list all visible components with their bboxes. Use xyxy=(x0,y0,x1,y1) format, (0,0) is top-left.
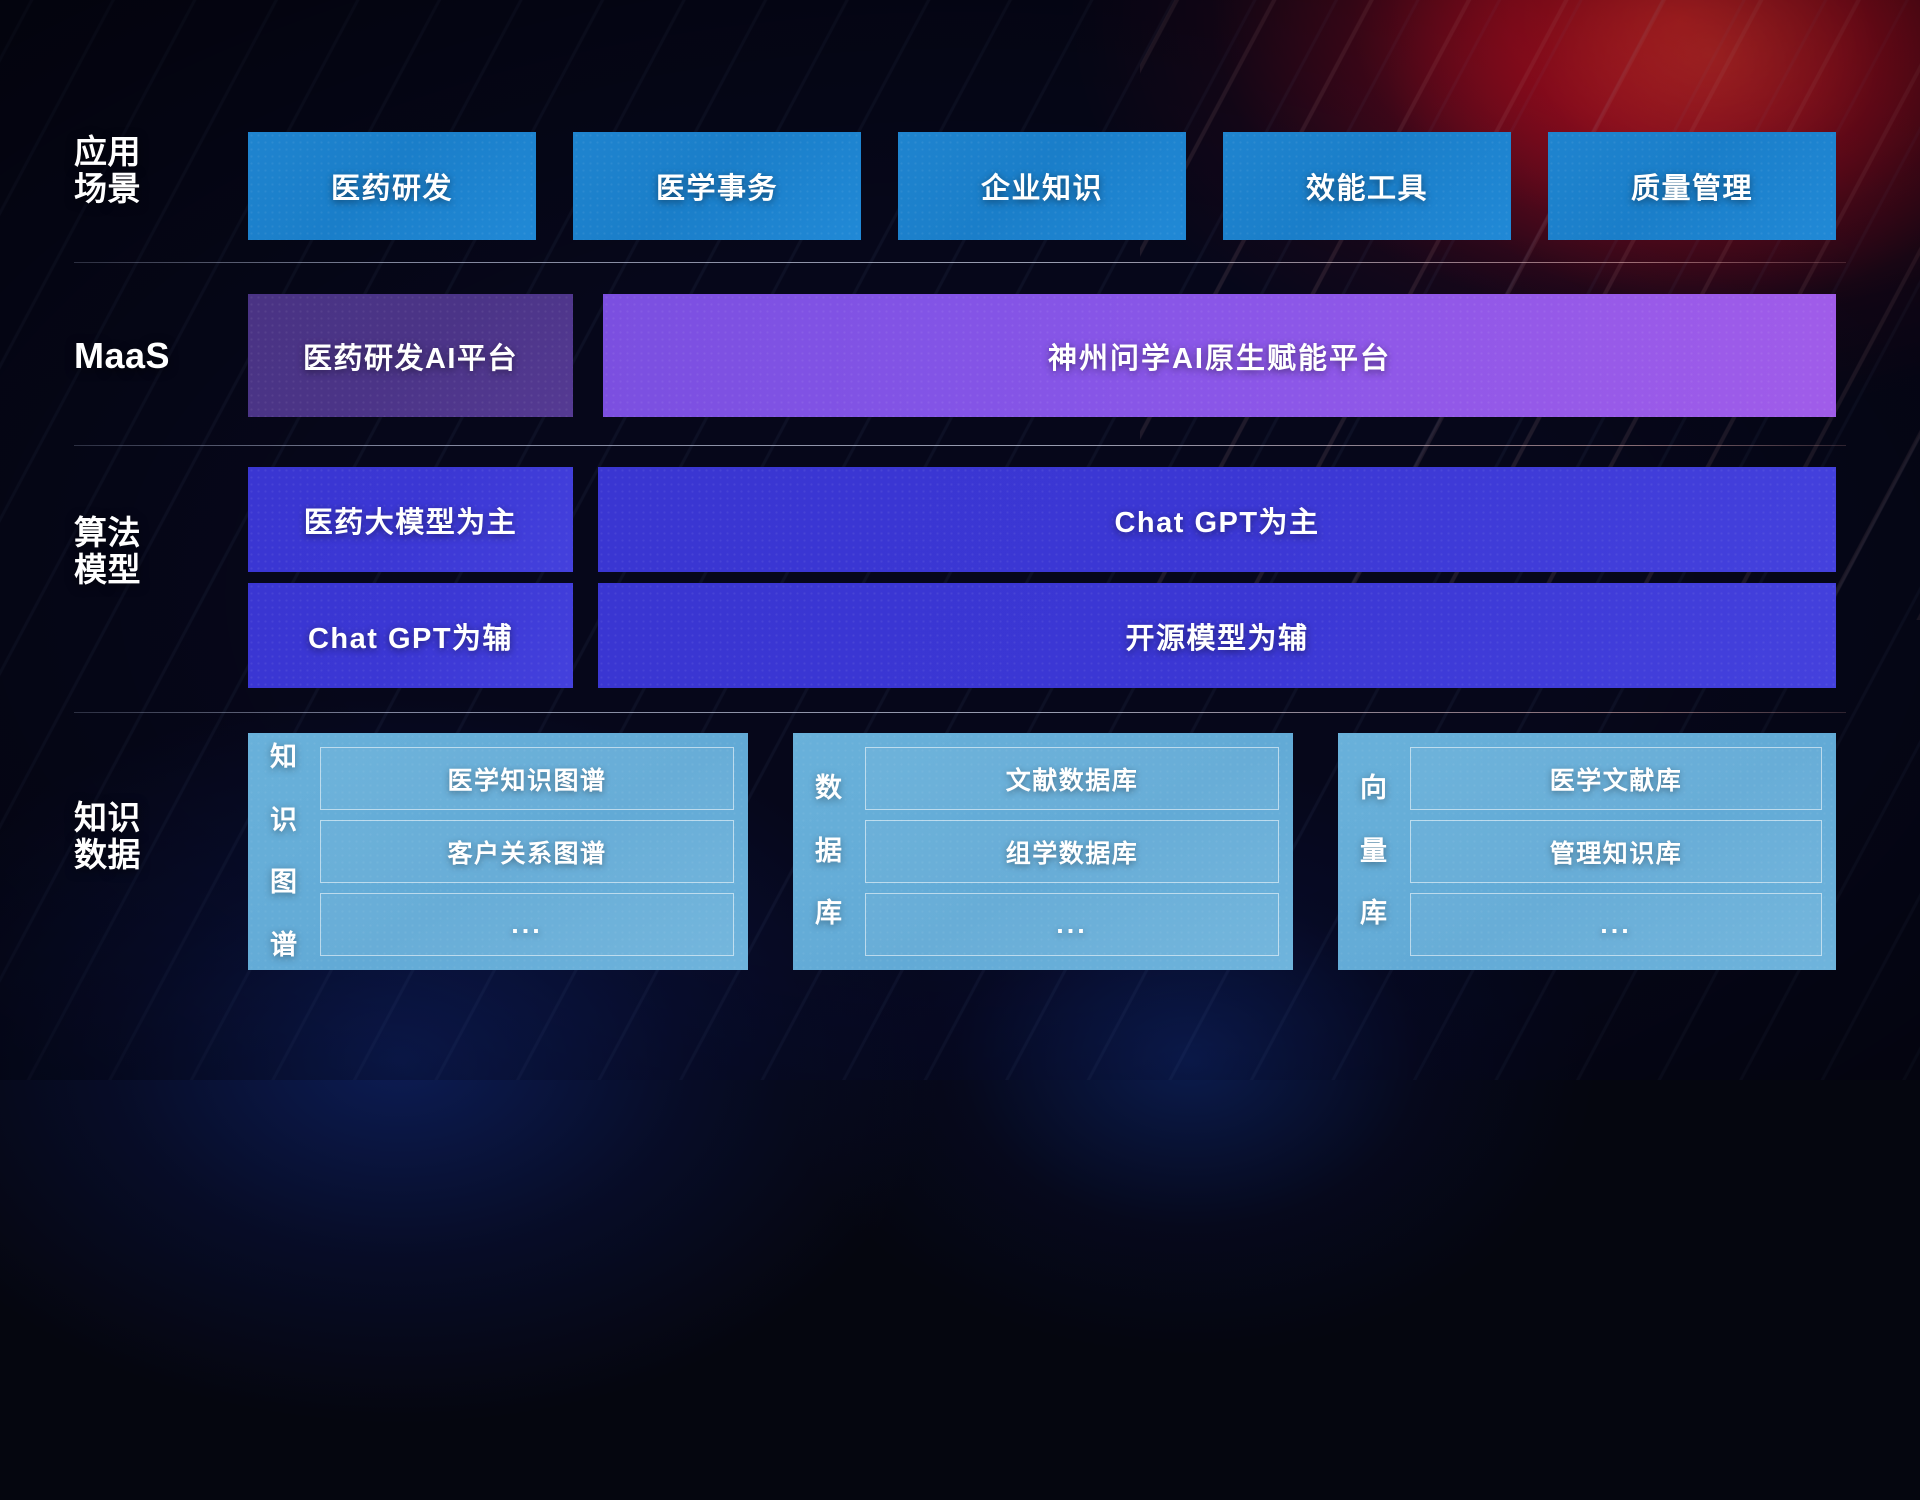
side-label-char: 库 xyxy=(815,898,843,929)
knowledge-panel-side-label: 数 据 库 xyxy=(793,747,865,956)
app-scenario-box-2[interactable]: 企业知识 xyxy=(898,132,1186,240)
knowledge-panel-vector-store[interactable]: 向 量 库 医学文献库 管理知识库 ... xyxy=(1338,733,1836,970)
tier-label-line: 场景 xyxy=(74,171,214,208)
knowledge-item[interactable]: 文献数据库 xyxy=(865,747,1279,810)
maas-platform-box-1[interactable]: 神州问学AI原生赋能平台 xyxy=(603,294,1836,417)
architecture-diagram: 应用 场景 医药研发 医学事务 企业知识 效能工具 质量管理 MaaS xyxy=(0,0,1920,1080)
maas-platform-label: 医药研发AI平台 xyxy=(303,335,518,377)
tier-label-line: 数据 xyxy=(74,837,214,874)
side-label-char: 向 xyxy=(1360,773,1388,804)
tier-label-line: 知识 xyxy=(74,800,214,837)
tier-label-line: 模型 xyxy=(74,552,214,589)
app-scenario-label: 医学事务 xyxy=(656,165,778,207)
maas-platform-label: 神州问学AI原生赋能平台 xyxy=(1048,335,1391,377)
knowledge-panel-database[interactable]: 数 据 库 文献数据库 组学数据库 ... xyxy=(793,733,1293,970)
tier-label-maas: MaaS xyxy=(74,336,214,376)
side-label-char: 图 xyxy=(270,867,298,898)
app-scenario-box-0[interactable]: 医药研发 xyxy=(248,132,536,240)
knowledge-item[interactable]: 组学数据库 xyxy=(865,820,1279,883)
algorithm-box-row0-left[interactable]: 医药大模型为主 xyxy=(248,467,573,572)
side-label-char: 数 xyxy=(815,773,843,804)
knowledge-item-list: 文献数据库 组学数据库 ... xyxy=(865,747,1279,956)
knowledge-item-more[interactable]: ... xyxy=(865,893,1279,956)
app-scenario-label: 质量管理 xyxy=(1631,165,1753,207)
knowledge-item-list: 医学文献库 管理知识库 ... xyxy=(1410,747,1822,956)
knowledge-item-more[interactable]: ... xyxy=(320,893,734,956)
side-label-char: 识 xyxy=(270,805,298,836)
knowledge-panel-side-label: 向 量 库 xyxy=(1338,747,1410,956)
side-label-char: 库 xyxy=(1360,898,1388,929)
tier-label-algorithm-models: 算法 模型 xyxy=(74,515,214,589)
divider-after-algorithm xyxy=(74,712,1846,713)
divider-after-maas xyxy=(74,445,1846,446)
tier-label-application-scenarios: 应用 场景 xyxy=(74,134,214,208)
app-scenario-label: 效能工具 xyxy=(1306,165,1428,207)
knowledge-item-list: 医学知识图谱 客户关系图谱 ... xyxy=(320,747,734,956)
side-label-char: 量 xyxy=(1360,836,1388,867)
knowledge-item[interactable]: 客户关系图谱 xyxy=(320,820,734,883)
side-label-char: 谱 xyxy=(270,930,298,961)
algorithm-box-row1-right[interactable]: 开源模型为辅 xyxy=(598,583,1836,688)
tier-label-line: 算法 xyxy=(74,515,214,552)
algorithm-box-row0-right[interactable]: Chat GPT为主 xyxy=(598,467,1836,572)
app-scenario-box-1[interactable]: 医学事务 xyxy=(573,132,861,240)
algorithm-label: Chat GPT为辅 xyxy=(308,615,513,657)
knowledge-item[interactable]: 医学知识图谱 xyxy=(320,747,734,810)
side-label-char: 知 xyxy=(270,742,298,773)
knowledge-panel-side-label: 知 识 图 谱 xyxy=(248,747,320,956)
algorithm-label: Chat GPT为主 xyxy=(1114,499,1319,541)
maas-platform-box-0[interactable]: 医药研发AI平台 xyxy=(248,294,573,417)
app-scenario-label: 企业知识 xyxy=(981,165,1103,207)
algorithm-label: 开源模型为辅 xyxy=(1125,615,1308,657)
app-scenario-box-3[interactable]: 效能工具 xyxy=(1223,132,1511,240)
knowledge-item[interactable]: 医学文献库 xyxy=(1410,747,1822,810)
knowledge-panel-knowledge-graph[interactable]: 知 识 图 谱 医学知识图谱 客户关系图谱 ... xyxy=(248,733,748,970)
algorithm-label: 医药大模型为主 xyxy=(304,499,518,541)
tier-label-knowledge-data: 知识 数据 xyxy=(74,800,214,874)
algorithm-box-row1-left[interactable]: Chat GPT为辅 xyxy=(248,583,573,688)
tier-label-line: MaaS xyxy=(74,336,214,376)
app-scenario-label: 医药研发 xyxy=(331,165,453,207)
app-scenario-box-4[interactable]: 质量管理 xyxy=(1548,132,1836,240)
knowledge-item[interactable]: 管理知识库 xyxy=(1410,820,1822,883)
divider-after-application xyxy=(74,262,1846,263)
side-label-char: 据 xyxy=(815,836,843,867)
tier-label-line: 应用 xyxy=(74,134,214,171)
knowledge-item-more[interactable]: ... xyxy=(1410,893,1822,956)
